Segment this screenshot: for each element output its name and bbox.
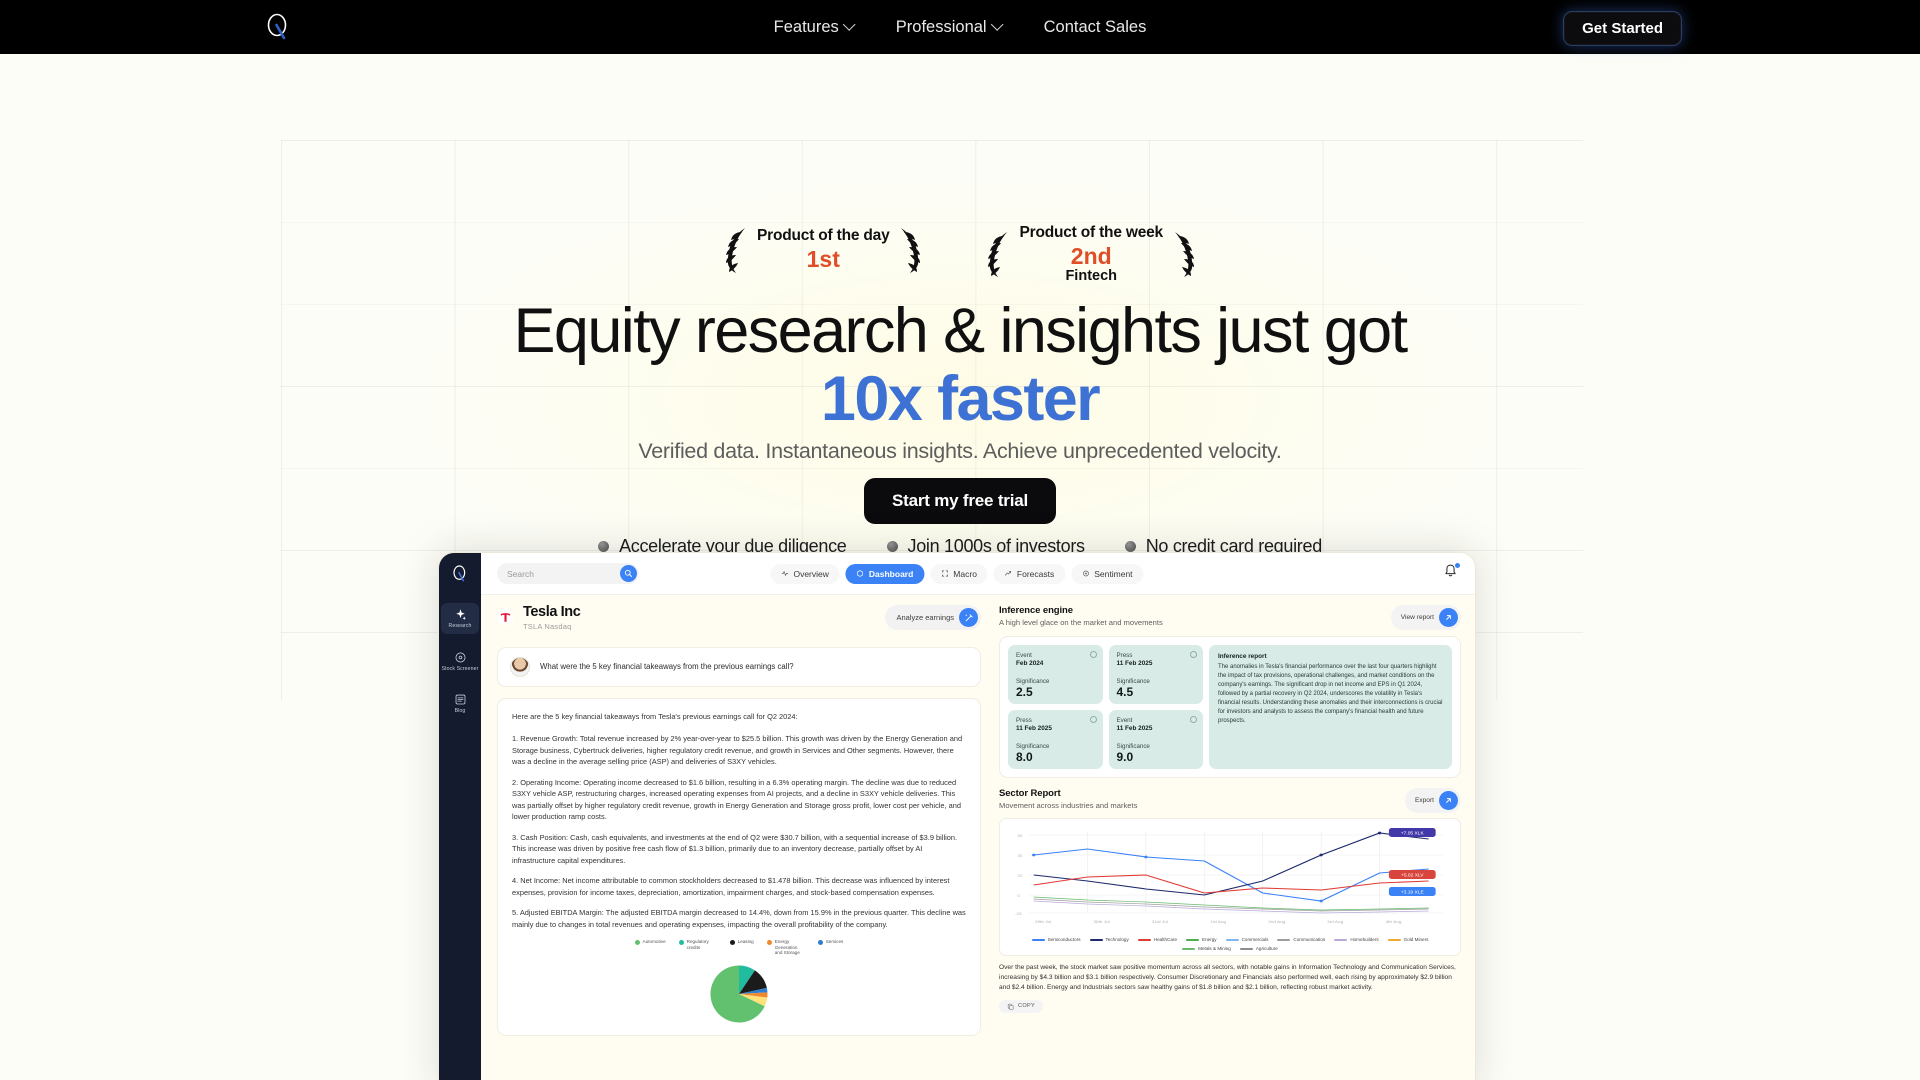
revenue-pie-chart <box>512 963 966 1025</box>
legend-item: Semiconductors <box>1032 937 1081 942</box>
sidebar-item-research[interactable]: Research <box>441 603 479 634</box>
card-date: 11 Feb 2025 <box>1117 725 1196 732</box>
inference-engine-section: Inference engine A high level glace on t… <box>999 605 1461 778</box>
nav-item-features[interactable]: Features <box>753 0 875 54</box>
app-sidebar: Research Stock Screener Blog <box>439 595 481 1080</box>
legend-item: HealthCare <box>1138 937 1177 942</box>
ticker-name: Tesla Inc <box>523 605 580 621</box>
legend-swatch <box>767 940 772 945</box>
pie-chart-legend: Automotive Regulatory credits Leasing <box>512 939 966 956</box>
view-report-label: View report <box>1401 614 1434 621</box>
legend-label: Leasing <box>738 939 754 945</box>
legend-item: Automotive <box>635 939 666 956</box>
pie-chart-svg <box>685 963 793 1025</box>
list-icon <box>454 693 467 706</box>
export-label: Export <box>1415 797 1434 804</box>
svg-text:+5.02 XLV: +5.02 XLV <box>1401 873 1425 878</box>
headline-accent: 10x faster <box>0 365 1920 433</box>
chevron-down-icon <box>991 18 1004 31</box>
top-navigation-bar: Features Professional Contact Sales Get … <box>0 0 1920 54</box>
chart-annotation: +3.19 XLE <box>1389 887 1436 896</box>
analyze-earnings-label: Analyze earnings <box>896 613 954 622</box>
legend-swatch <box>1334 939 1347 941</box>
legend-item: Technology <box>1090 937 1129 942</box>
laurel-right-icon <box>1165 228 1205 280</box>
legend-swatch <box>1240 948 1253 950</box>
q-logo-icon <box>450 564 470 584</box>
sector-report-section: Sector Report Movement across industries… <box>999 788 1461 1015</box>
inference-card[interactable]: Event 11 Feb 2025 Significance 9.0 <box>1109 710 1204 769</box>
answer-point: 2. Operating Income: Operating income de… <box>512 777 966 823</box>
analyze-earnings-button[interactable]: Analyze earnings <box>885 605 981 630</box>
expand-icon <box>941 570 948 577</box>
target-icon <box>454 651 467 664</box>
laurel-left-icon <box>715 224 755 276</box>
nav-item-professional[interactable]: Professional <box>875 0 1023 54</box>
inference-card[interactable]: Press 11 Feb 2025 Significance 8.0 <box>1008 710 1103 769</box>
legend-swatch <box>1226 939 1239 941</box>
badge-product-of-the-week: Product of the week 2nd Fintech <box>977 224 1204 284</box>
tab-sentiment-label: Sentiment <box>1094 569 1132 579</box>
svg-text:4th Aug: 4th Aug <box>1386 919 1402 924</box>
arrow-up-right-icon <box>1439 608 1458 627</box>
svg-text:0: 0 <box>1017 893 1020 898</box>
card-significance-label: Significance <box>1016 743 1095 750</box>
search-icon[interactable] <box>620 565 637 582</box>
tab-macro-label: Macro <box>953 569 977 579</box>
legend-item: Agriculture <box>1240 946 1278 951</box>
trend-up-icon <box>1005 570 1012 577</box>
legend-item: Metals & Mining <box>1182 946 1231 951</box>
badge-product-of-the-day: Product of the day 1st <box>715 224 931 276</box>
inference-report-body: The anomalies in Tesla's financial perfo… <box>1218 663 1443 726</box>
card-date: 11 Feb 2025 <box>1016 725 1095 732</box>
legend-swatch <box>1090 939 1103 941</box>
tab-overview-label: Overview <box>793 569 828 579</box>
legend-label: Commercials <box>1242 937 1269 942</box>
card-significance-value: 8.0 <box>1016 751 1095 764</box>
svg-text:30th Jul: 30th Jul <box>1093 919 1109 924</box>
legend-item: Commercials <box>1226 937 1269 942</box>
sparkle-icon <box>454 608 467 621</box>
svg-text:-25: -25 <box>1015 911 1022 916</box>
legend-item: Gold Miners <box>1388 937 1429 942</box>
tab-forecasts-label: Forecasts <box>1017 569 1054 579</box>
legend-item: Energy Generation and Storage <box>767 939 805 956</box>
sector-chart-legend: Semiconductors Technology HealthCare Ene… <box>1008 937 1452 951</box>
card-significance-label: Significance <box>1117 743 1196 750</box>
info-icon[interactable] <box>1190 651 1197 658</box>
legend-swatch <box>679 940 684 945</box>
sidebar-item-blog[interactable]: Blog <box>441 688 479 719</box>
bullet-dot-icon <box>887 541 898 552</box>
inference-title: Inference engine <box>999 605 1163 616</box>
tab-dashboard[interactable]: Dashboard <box>846 564 924 584</box>
svg-text:50: 50 <box>1017 833 1023 838</box>
notifications-button[interactable] <box>1443 563 1459 583</box>
chart-annotation: +5.02 XLV <box>1389 870 1436 879</box>
info-icon[interactable] <box>1190 716 1197 723</box>
legend-swatch <box>635 940 640 945</box>
card-kind: Event <box>1016 652 1095 659</box>
svg-text:29th Jul: 29th Jul <box>1035 919 1051 924</box>
inference-report: Inference report The anomalies in Tesla'… <box>1209 645 1452 769</box>
card-kind: Press <box>1117 652 1196 659</box>
research-column: Tesla Inc TSLA Nasdaq Analyze earnings <box>481 595 993 1080</box>
legend-swatch <box>1032 939 1045 941</box>
svg-text:20: 20 <box>1017 873 1023 878</box>
tesla-logo-icon <box>497 609 514 626</box>
nav-item-contact-sales[interactable]: Contact Sales <box>1023 0 1168 54</box>
chat-question-text: What were the 5 key financial takeaways … <box>540 662 794 671</box>
card-kind: Press <box>1016 717 1095 724</box>
legend-label: HealthCare <box>1154 937 1177 942</box>
svg-text:+7.05 XLK: +7.05 XLK <box>1401 831 1424 836</box>
inference-card[interactable]: Press 11 Feb 2025 Significance 4.5 <box>1109 645 1204 704</box>
legend-label: Energy Generation and Storage <box>775 939 805 956</box>
legend-label: Metals & Mining <box>1198 946 1231 951</box>
card-significance-label: Significance <box>1016 678 1095 685</box>
sidebar-item-stock-screener[interactable]: Stock Screener <box>441 646 479 677</box>
badge-rank: 2nd <box>1019 244 1162 269</box>
inference-card[interactable]: Event Feb 2024 Significance 2.5 <box>1008 645 1103 704</box>
nav-links: Features Professional Contact Sales <box>753 0 1168 54</box>
view-report-button[interactable]: View report <box>1391 605 1461 630</box>
start-free-trial-button[interactable]: Start my free trial <box>864 478 1056 524</box>
legend-item: Services <box>818 939 844 956</box>
q-logo-icon <box>263 12 293 42</box>
card-significance-value: 9.0 <box>1117 751 1196 764</box>
card-date: Feb 2024 <box>1016 660 1095 667</box>
legend-item: Leasing <box>730 939 754 956</box>
svg-text:+3.19 XLE: +3.19 XLE <box>1401 890 1424 895</box>
laurel-left-icon <box>977 228 1017 280</box>
app-main-content: Tesla Inc TSLA Nasdaq Analyze earnings <box>481 595 1475 1080</box>
app-toolbar: Search Overview Dashboard Macro <box>439 553 1475 595</box>
notification-badge <box>1454 562 1461 569</box>
legend-label: Technology <box>1106 937 1129 942</box>
legend-label: Gold Miners <box>1404 937 1429 942</box>
tab-dashboard-label: Dashboard <box>869 569 913 579</box>
legend-item: Homebuilders <box>1334 937 1378 942</box>
sector-title: Sector Report <box>999 788 1137 799</box>
sector-header: Sector Report Movement across industries… <box>999 788 1461 813</box>
legend-swatch <box>1138 939 1151 941</box>
chart-annotation: +7.05 XLK <box>1389 828 1436 837</box>
svg-text:2nd Aug: 2nd Aug <box>1268 919 1286 924</box>
sidebar-item-stock-screener-label: Stock Screener <box>442 666 479 673</box>
legend-label: Services <box>826 939 844 945</box>
answer-point: 1. Revenue Growth: Total revenue increas… <box>512 733 966 767</box>
sector-subtitle: Movement across industries and markets <box>999 801 1137 810</box>
inference-grid: Event Feb 2024 Significance 2.5 Press 11 <box>1008 645 1452 769</box>
card-significance-value: 2.5 <box>1016 686 1095 699</box>
legend-item: Communication <box>1277 937 1325 942</box>
card-significance-value: 4.5 <box>1117 686 1196 699</box>
legend-swatch <box>1388 939 1401 941</box>
badge-rank: 1st <box>757 247 889 272</box>
insights-column: Inference engine A high level glace on t… <box>993 595 1475 1080</box>
svg-text:35: 35 <box>1017 853 1023 858</box>
chevron-down-icon <box>843 18 856 31</box>
brand-logo[interactable] <box>258 7 298 47</box>
bullet-dot-icon <box>1125 541 1136 552</box>
bullet-dot-icon <box>598 541 609 552</box>
inference-cards: Event Feb 2024 Significance 2.5 Press 11 <box>1008 645 1203 769</box>
legend-label: Agriculture <box>1256 946 1278 951</box>
legend-item: Regulatory credits <box>679 939 717 956</box>
award-badges: Product of the day 1st <box>715 224 1205 284</box>
hero-section: Product of the day 1st <box>0 54 1920 1080</box>
avatar <box>510 657 530 677</box>
tab-overview[interactable]: Overview <box>770 564 839 584</box>
hero-subheading: Verified data. Instantaneous insights. A… <box>0 439 1920 464</box>
sector-chart-card: 5035 200-25 <box>999 818 1461 956</box>
get-started-button[interactable]: Get Started <box>1563 11 1682 46</box>
legend-label: Semiconductors <box>1048 937 1081 942</box>
copy-button[interactable]: COPY <box>999 1000 1043 1013</box>
legend-label: Energy <box>1202 937 1217 942</box>
legend-label: Homebuilders <box>1350 937 1378 942</box>
app-tabs: Overview Dashboard Macro Forecasts Senti… <box>770 564 1143 584</box>
inference-panel: Event Feb 2024 Significance 2.5 Press 11 <box>999 636 1461 778</box>
legend-swatch <box>818 940 823 945</box>
page-title: Equity research & insights just got 10x … <box>0 297 1920 433</box>
info-icon[interactable] <box>1090 716 1097 723</box>
sidebar-item-research-label: Research <box>448 623 471 630</box>
card-significance-label: Significance <box>1117 678 1196 685</box>
chat-answer-card: Here are the 5 key financial takeaways f… <box>497 698 981 1036</box>
svg-text:3rd Aug: 3rd Aug <box>1327 919 1344 924</box>
svg-text:31st Jul: 31st Jul <box>1152 919 1168 924</box>
info-icon[interactable] <box>1090 651 1097 658</box>
legend-label: Communication <box>1293 937 1325 942</box>
ticker-header: Tesla Inc TSLA Nasdaq Analyze earnings <box>497 605 981 631</box>
inference-report-title: Inference report <box>1218 653 1443 660</box>
nav-item-features-label: Features <box>774 18 839 37</box>
sector-line-chart: 5035 200-25 <box>1008 825 1452 929</box>
export-button[interactable]: Export <box>1405 788 1461 813</box>
legend-label: Automotive <box>643 939 666 945</box>
answer-lead: Here are the 5 key financial takeaways f… <box>512 711 966 722</box>
copy-label: COPY <box>1018 1003 1035 1009</box>
dashboard-icon <box>857 570 864 577</box>
app-brand-logo[interactable] <box>439 553 481 595</box>
legend-item: Energy <box>1186 937 1217 942</box>
legend-label: Regulatory credits <box>687 939 717 950</box>
sector-summary-text: Over the past week, the stock market saw… <box>999 963 1461 994</box>
gauge-icon <box>1082 570 1089 577</box>
badge-category: Fintech <box>1019 269 1162 284</box>
pulse-icon <box>781 570 788 577</box>
badge-title: Product of the day <box>757 227 889 245</box>
answer-point: 4. Net Income: Net income attributable t… <box>512 875 966 898</box>
card-kind: Event <box>1117 717 1196 724</box>
card-date: 11 Feb 2025 <box>1117 660 1196 667</box>
inference-header: Inference engine A high level glace on t… <box>999 605 1461 630</box>
legend-swatch <box>1182 948 1195 950</box>
hero-cta-wrapper: Start my free trial <box>0 478 1920 524</box>
sidebar-item-blog-label: Blog <box>455 708 466 715</box>
chat-question-row: What were the 5 key financial takeaways … <box>497 647 981 687</box>
badge-title: Product of the week <box>1019 224 1162 242</box>
arrow-up-right-icon <box>1439 791 1458 810</box>
answer-point: 3. Cash Position: Cash, cash equivalents… <box>512 832 966 866</box>
laurel-right-icon <box>891 224 931 276</box>
search-input[interactable]: Search <box>497 563 639 584</box>
answer-point: 5. Adjusted EBITDA Margin: The adjusted … <box>512 907 966 930</box>
wand-icon <box>959 608 978 627</box>
nav-item-contact-sales-label: Contact Sales <box>1044 18 1147 37</box>
headline-line-1: Equity research & insights just got <box>0 297 1920 365</box>
nav-item-professional-label: Professional <box>896 18 987 37</box>
search-placeholder: Search <box>507 569 534 579</box>
svg-text:1st Aug: 1st Aug <box>1211 919 1227 924</box>
tab-forecasts[interactable]: Forecasts <box>994 564 1065 584</box>
inference-subtitle: A high level glace on the market and mov… <box>999 618 1163 627</box>
app-preview-window: Search Overview Dashboard Macro <box>438 552 1476 1080</box>
legend-swatch <box>1186 939 1199 941</box>
legend-swatch <box>730 940 735 945</box>
tab-sentiment[interactable]: Sentiment <box>1071 564 1143 584</box>
copy-icon <box>1007 1003 1014 1010</box>
legend-swatch <box>1277 939 1290 941</box>
ticker-exchange: TSLA Nasdaq <box>523 622 580 631</box>
app-body: Research Stock Screener Blog <box>439 595 1475 1080</box>
tab-macro[interactable]: Macro <box>930 564 988 584</box>
